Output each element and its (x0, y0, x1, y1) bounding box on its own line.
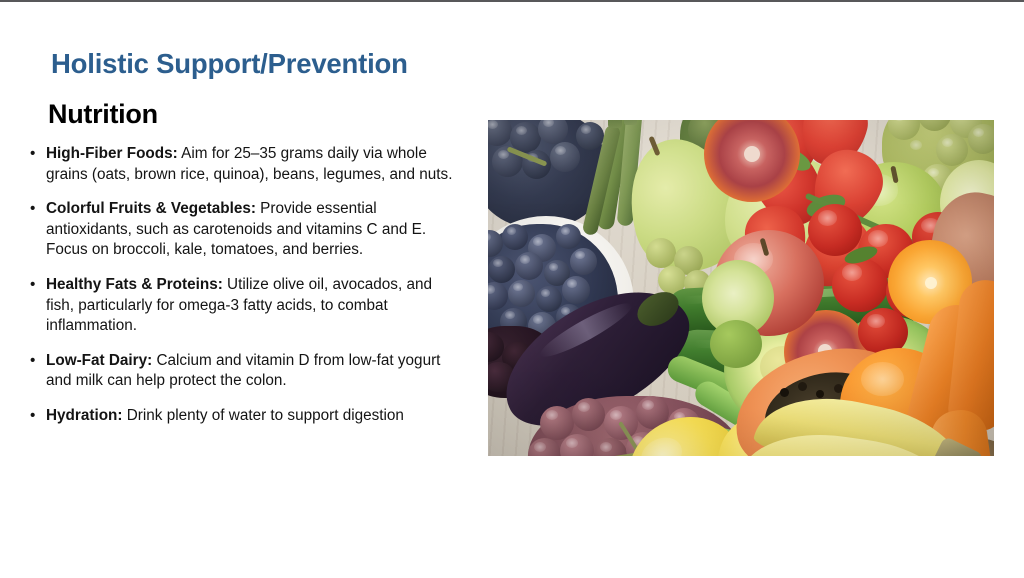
bullet-marker-icon: • (30, 199, 35, 220)
produce-photo (488, 120, 994, 456)
list-item-lead: High-Fiber Foods: (46, 145, 178, 162)
bullet-marker-icon: • (30, 406, 35, 427)
list-item: • Healthy Fats & Proteins: Utilize olive… (26, 275, 462, 337)
bullet-marker-icon: • (30, 275, 35, 296)
page-title: Holistic Support/Prevention (51, 48, 408, 80)
list-item-lead: Healthy Fats & Proteins: (46, 276, 223, 293)
top-edge-rule (0, 0, 1024, 2)
photo-vignette (488, 120, 994, 456)
section-heading-nutrition: Nutrition (48, 99, 158, 130)
bullet-list: • High-Fiber Foods: Aim for 25–35 grams … (26, 144, 462, 427)
list-item-lead: Low-Fat Dairy: (46, 352, 152, 369)
slide-canvas: Holistic Support/Prevention Nutrition • … (0, 0, 1024, 578)
list-item: • Hydration: Drink plenty of water to su… (26, 406, 462, 427)
list-item: • Colorful Fruits & Vegetables: Provide … (26, 199, 462, 261)
bullet-marker-icon: • (30, 144, 35, 165)
list-item-lead: Colorful Fruits & Vegetables: (46, 200, 256, 217)
list-item: • High-Fiber Foods: Aim for 25–35 grams … (26, 144, 462, 185)
bullet-marker-icon: • (30, 351, 35, 372)
list-item-body: Drink plenty of water to support digesti… (123, 407, 404, 424)
produce-photo-canvas (488, 120, 994, 456)
list-item: • Low-Fat Dairy: Calcium and vitamin D f… (26, 351, 462, 392)
list-item-lead: Hydration: (46, 407, 123, 424)
